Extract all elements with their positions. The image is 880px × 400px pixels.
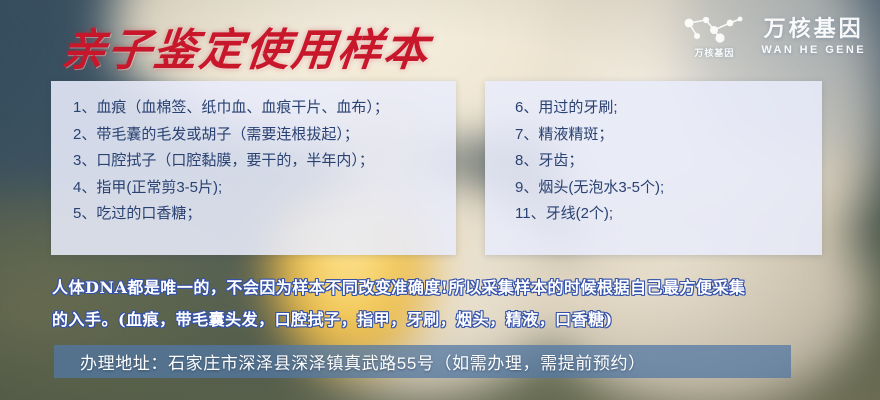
- list-item: 6、用过的牙刷;: [515, 95, 822, 122]
- list-item: 8、牙齿；: [515, 148, 822, 175]
- list-item: 9、烟头(无泡水3-5个);: [515, 175, 822, 202]
- list-item: 11、牙线(2个);: [515, 201, 822, 228]
- address-text: 办理地址：石家庄市深泽县深泽镇真武路55号（如需办理，需提前预约）: [80, 349, 646, 374]
- sample-list-right: 6、用过的牙刷; 7、精液精斑； 8、牙齿； 9、烟头(无泡水3-5个); 11…: [515, 95, 822, 228]
- logo-mark: 万核基因: [680, 14, 748, 59]
- list-item: 4、指甲(正常剪3-5片);: [73, 175, 456, 202]
- sample-panel-right: 6、用过的牙刷; 7、精液精斑； 8、牙齿； 9、烟头(无泡水3-5个); 11…: [485, 81, 822, 255]
- logo-name-en: WAN HE GENE: [761, 44, 866, 56]
- brand-logo[interactable]: 万核基因 万核基因 WAN HE GENE: [680, 14, 866, 59]
- sample-panel-left: 1、血痕（血棉签、纸巾血、血痕干片、血布）； 2、带毛囊的毛发或胡子（需要连根拔…: [51, 81, 456, 255]
- list-item: 3、口腔拭子（口腔黏膜，要干的，半年内）；: [73, 148, 456, 175]
- sample-list-left: 1、血痕（血棉签、纸巾血、血痕干片、血布）； 2、带毛囊的毛发或胡子（需要连根拔…: [73, 95, 456, 228]
- poster-root: 亲子鉴定使用样本: [0, 0, 880, 400]
- note-paragraph: 人体DNA都是唯一的，不会因为样本不同改变准确度!所以采集样本的时候根据自己最方…: [52, 272, 842, 336]
- note-line-1: 人体DNA都是唯一的，不会因为样本不同改变准确度!所以采集样本的时候根据自己最方…: [52, 272, 842, 304]
- list-item: 5、吃过的口香糖；: [73, 201, 456, 228]
- address-bar: 办理地址：石家庄市深泽县深泽镇真武路55号（如需办理，需提前预约）: [54, 345, 791, 378]
- logo-mark-label: 万核基因: [694, 46, 734, 59]
- page-title: 亲子鉴定使用样本: [59, 14, 434, 78]
- logo-name-cn: 万核基因: [764, 17, 864, 41]
- molecule-icon: [680, 14, 748, 44]
- note-line-2: 的入手。(血痕，带毛囊头发，口腔拭子，指甲，牙刷，烟头，精液，口香糖): [52, 304, 842, 336]
- list-item: 2、带毛囊的毛发或胡子（需要连根拔起）；: [73, 122, 456, 149]
- logo-wordmark: 万核基因 WAN HE GENE: [761, 17, 866, 56]
- list-item: 7、精液精斑；: [515, 122, 822, 149]
- list-item: 1、血痕（血棉签、纸巾血、血痕干片、血布）；: [73, 95, 456, 122]
